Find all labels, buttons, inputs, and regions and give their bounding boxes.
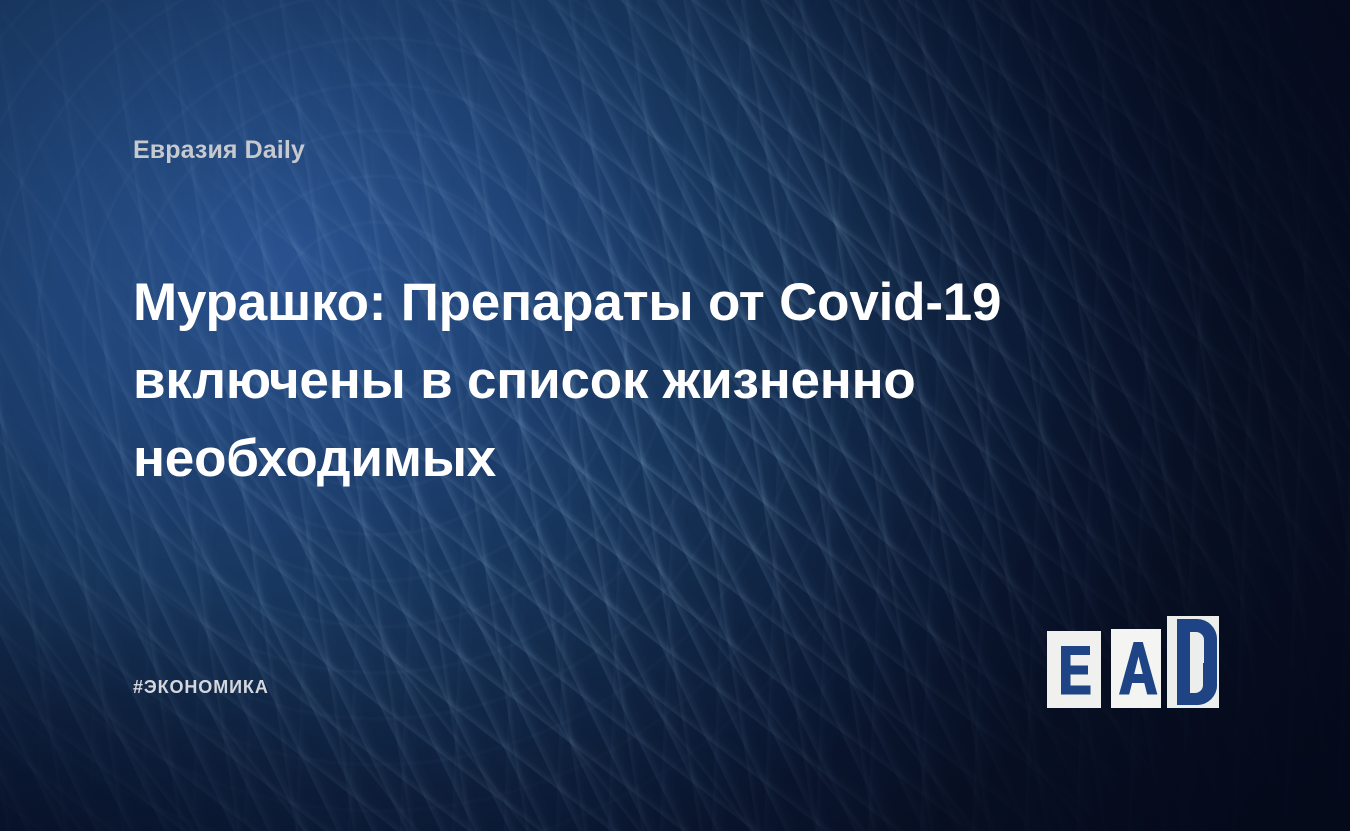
ead-logo	[1045, 616, 1223, 708]
ead-logo-icon	[1045, 616, 1223, 708]
headline: Мурашко: Препараты от Covid-19 включены …	[133, 264, 1053, 498]
brand-name: Евразия Daily	[133, 136, 305, 165]
rubric-tag: #ЭКОНОМИКА	[133, 677, 269, 698]
news-cover-card: Евразия Daily Мурашко: Препараты от Covi…	[0, 0, 1350, 831]
card-content: Евразия Daily Мурашко: Препараты от Covi…	[0, 0, 1350, 831]
